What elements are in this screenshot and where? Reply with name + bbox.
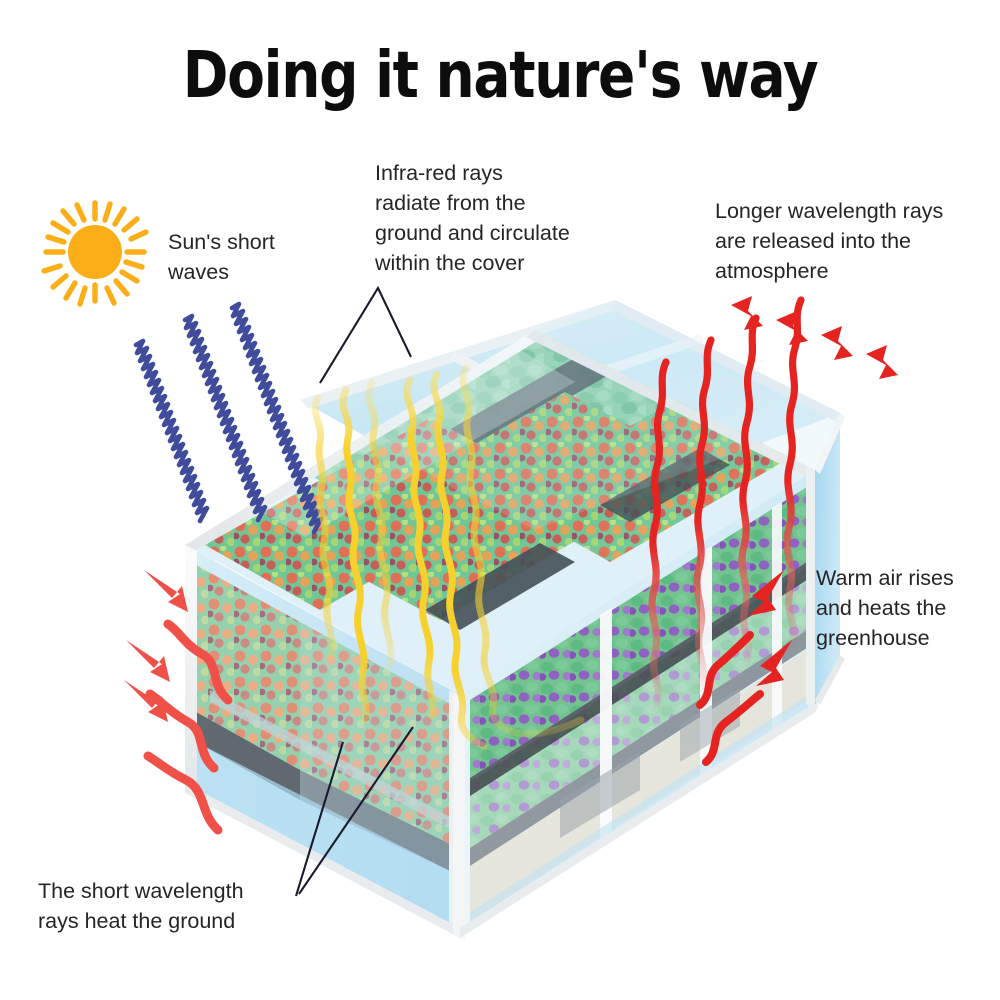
sun-icon: [44, 203, 146, 304]
label-longer-wavelength-rays: Longer wavelength rays are released into…: [715, 196, 975, 286]
label-short-wavelength-ground: The short wavelength rays heat the groun…: [38, 876, 308, 936]
infographic-canvas: Doing it nature's way: [0, 0, 1000, 1000]
label-warm-air-rises: Warm air rises and heats the greenhouse: [816, 563, 1000, 653]
sun-icon-layer: [0, 0, 1000, 1000]
label-infra-red-rays: Infra-red rays radiate from the ground a…: [375, 158, 615, 278]
label-sun-short-waves: Sun's short waves: [168, 227, 358, 287]
